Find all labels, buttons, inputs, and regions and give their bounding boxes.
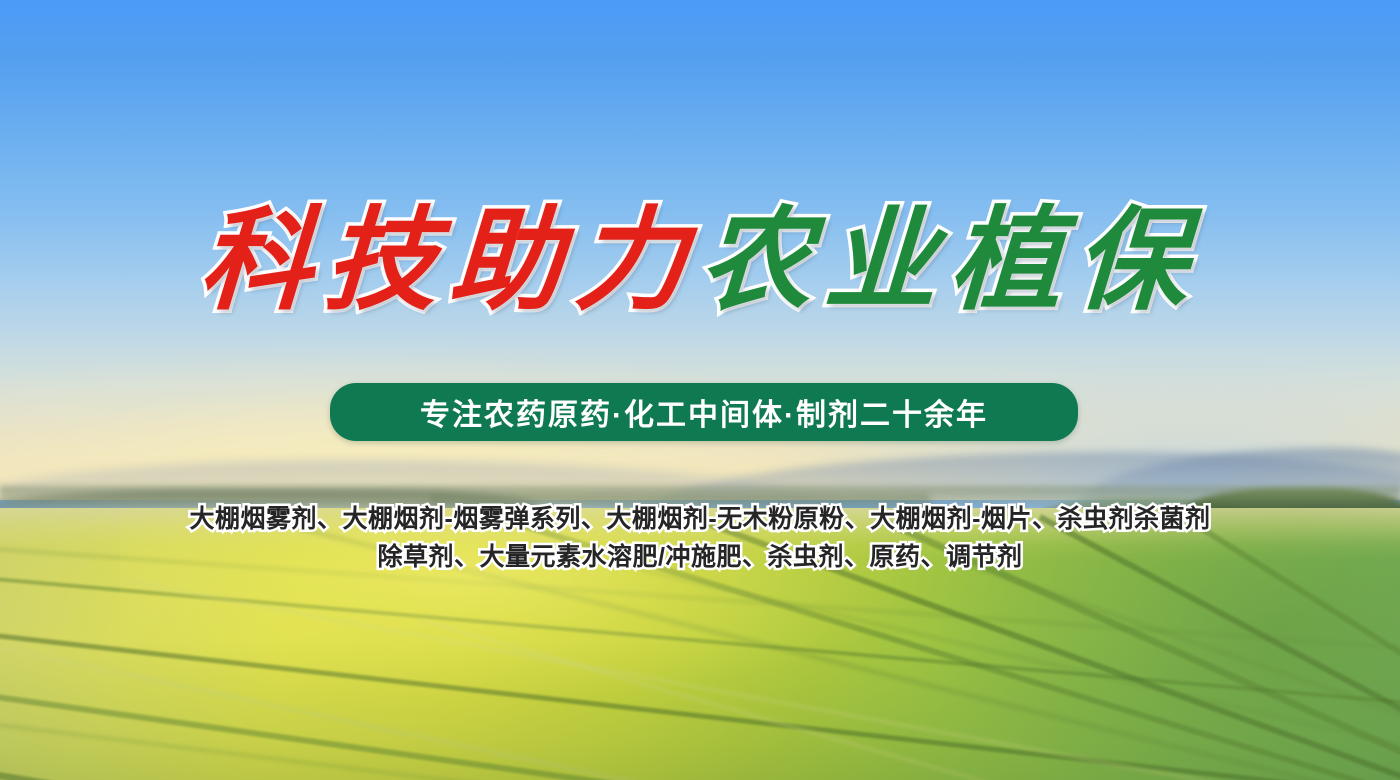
product-list: 大棚烟雾剂、大棚烟剂-烟雾弹系列、大棚烟剂-无木粉原粉、大棚烟剂-烟片、杀虫剂杀… — [0, 500, 1400, 576]
product-line-1: 大棚烟雾剂、大棚烟剂-烟雾弹系列、大棚烟剂-无木粉原粉、大棚烟剂-烟片、杀虫剂杀… — [0, 500, 1400, 538]
hero-banner: 科技助力农业植保 专注农药原药·化工中间体·制剂二十余年 大棚烟雾剂、大棚烟剂-… — [0, 0, 1400, 780]
subtitle-text: 专注农药原药·化工中间体·制剂二十余年 — [420, 390, 988, 434]
title-green-part: 农业植保 — [697, 205, 1203, 317]
banner-title: 科技助力农业植保 — [0, 205, 1400, 317]
title-red-part: 科技助力 — [197, 205, 703, 317]
subtitle-pill: 专注农药原药·化工中间体·制剂二十余年 — [330, 383, 1078, 441]
product-line-2: 除草剂、大量元素水溶肥/冲施肥、杀虫剂、原药、调节剂 — [0, 538, 1400, 576]
field-bottom-shade — [0, 640, 1400, 780]
